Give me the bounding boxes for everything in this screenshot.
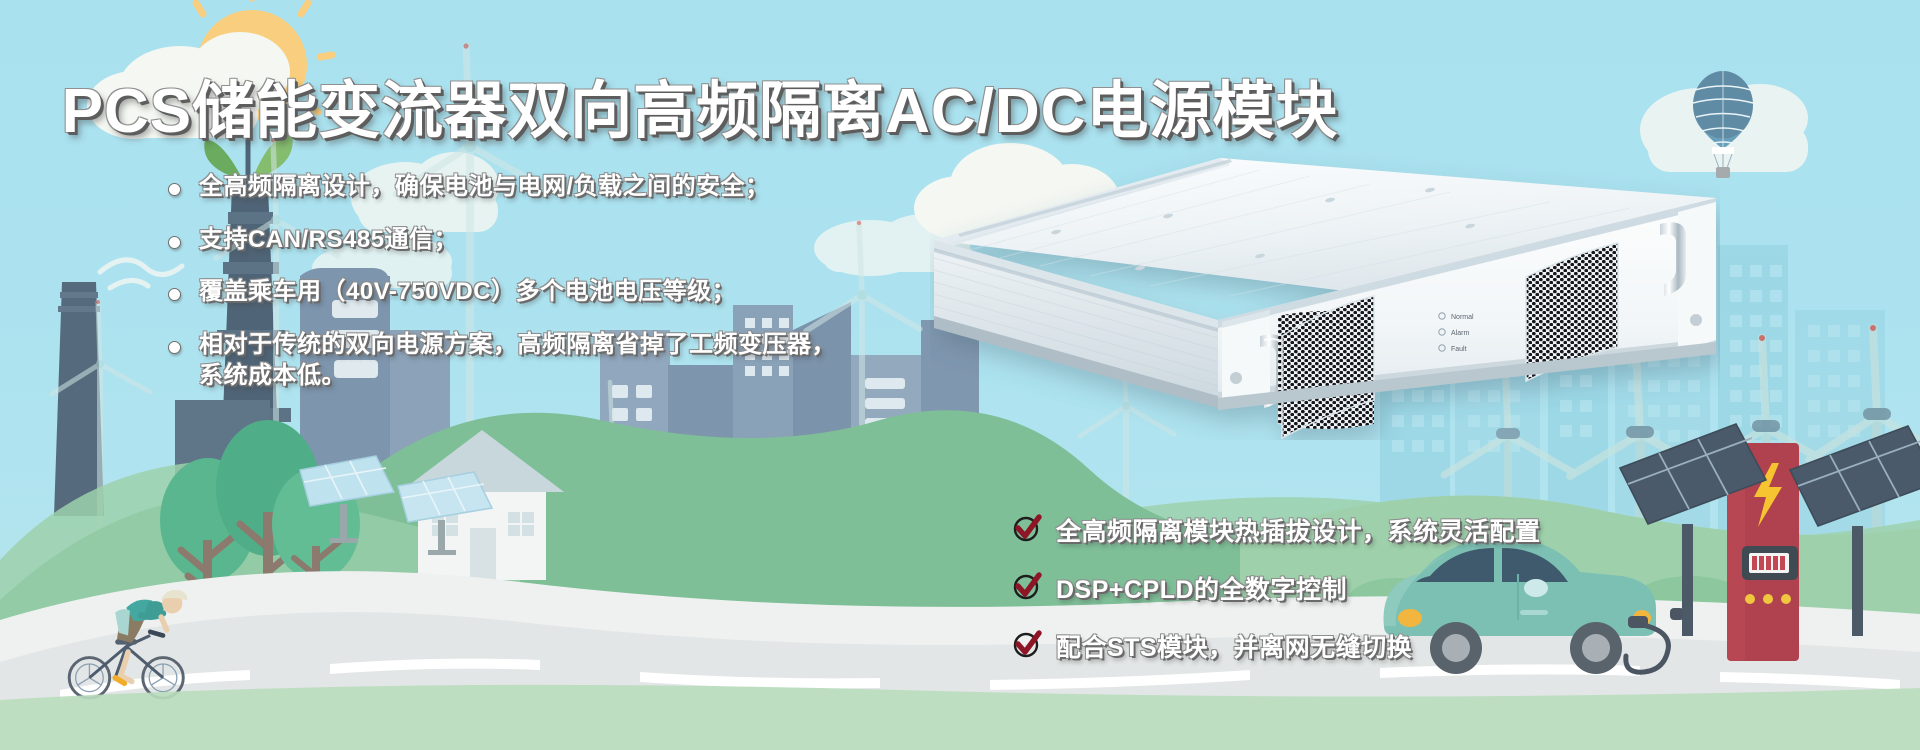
feature-text: 支持CAN/RS485通信；: [199, 225, 458, 256]
product-banner: Normal Alarm Fault PCS储能变流器双向高频隔离AC/DC电源…: [0, 0, 1920, 750]
check-circle-icon: [1012, 571, 1042, 606]
feature-item: 支持CAN/RS485通信；: [168, 225, 928, 256]
highlight-list: 全高频隔离模块热插拔设计，系统灵活配置 DSP+CPLD的全数字控制 配合STS…: [1012, 512, 1541, 686]
rack-mount-power-module: Normal Alarm Fault: [930, 140, 1720, 445]
feature-text: 全高频隔离设计，确保电池与电网/负载之间的安全；: [199, 172, 770, 203]
feature-item: 全高频隔离设计，确保电池与电网/负载之间的安全；: [168, 172, 928, 203]
feature-text: 覆盖乘车用（40V-750VDC）多个电池电压等级；: [199, 277, 736, 308]
led-label-alarm: Alarm: [1451, 330, 1469, 337]
bullet-dot-icon: [168, 183, 181, 196]
highlight-text: DSP+CPLD的全数字控制: [1056, 570, 1347, 606]
check-circle-icon: [1012, 513, 1042, 548]
bullet-dot-icon: [168, 236, 181, 249]
highlight-item: 配合STS模块，并离网无缝切换: [1012, 628, 1541, 664]
highlight-item: 全高频隔离模块热插拔设计，系统灵活配置: [1012, 512, 1541, 548]
led-label-normal: Normal: [1451, 314, 1474, 321]
check-circle-icon: [1012, 629, 1042, 664]
bullet-dot-icon: [168, 288, 181, 301]
led-label-fault: Fault: [1451, 346, 1467, 353]
highlight-item: DSP+CPLD的全数字控制: [1012, 570, 1541, 606]
feature-item: 相对于传统的双向电源方案，高频隔离省掉了工频变压器，系统成本低。: [168, 330, 928, 391]
highlight-text: 配合STS模块，并离网无缝切换: [1056, 628, 1412, 664]
bullet-dot-icon: [168, 341, 181, 354]
feature-item: 覆盖乘车用（40V-750VDC）多个电池电压等级；: [168, 277, 928, 308]
feature-list: 全高频隔离设计，确保电池与电网/负载之间的安全； 支持CAN/RS485通信； …: [168, 172, 928, 414]
highlight-text: 全高频隔离模块热插拔设计，系统灵活配置: [1056, 512, 1541, 548]
feature-text: 相对于传统的双向电源方案，高频隔离省掉了工频变压器，系统成本低。: [199, 330, 839, 391]
